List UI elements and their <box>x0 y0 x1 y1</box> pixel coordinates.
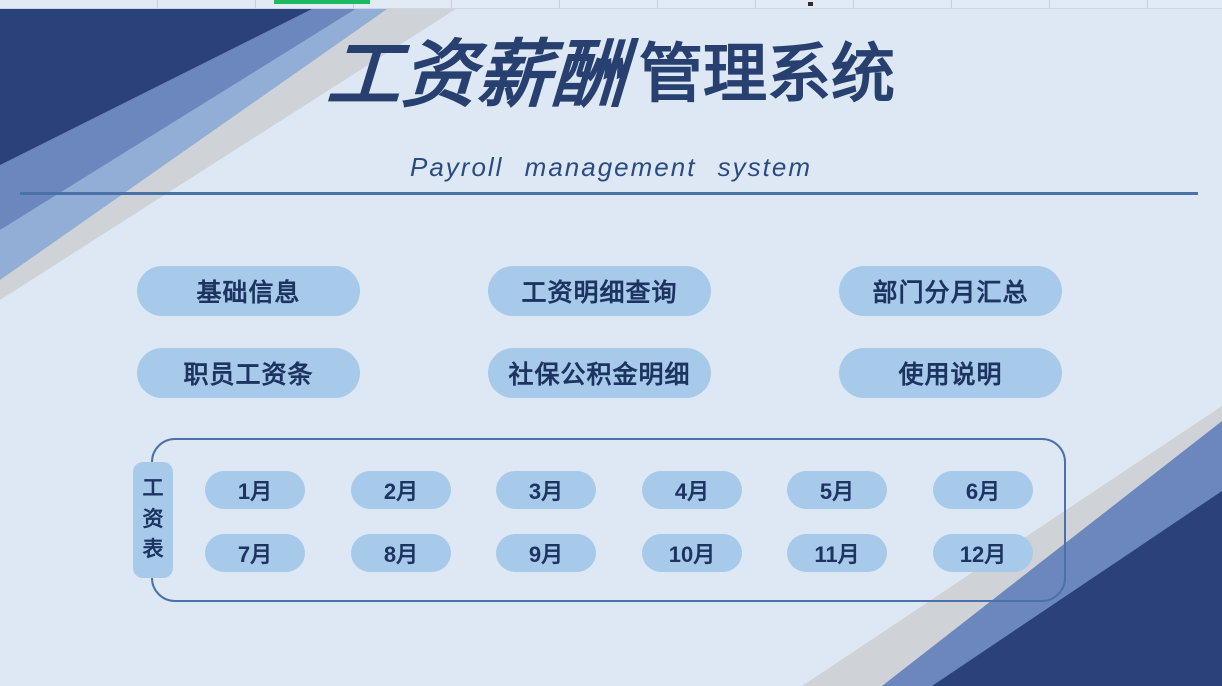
payroll-tab-char-1: 工 <box>143 474 164 504</box>
sheet-cell-mark <box>808 2 813 6</box>
payroll-tab-char-3: 表 <box>143 535 164 565</box>
sheet-divider <box>0 8 1222 9</box>
sheet-selection-indicator <box>274 0 370 4</box>
month-button-4[interactable]: 4月 <box>642 471 742 509</box>
month-button-12[interactable]: 12月 <box>933 534 1033 572</box>
payroll-tab-char-2: 资 <box>143 505 164 535</box>
month-button-2[interactable]: 2月 <box>351 471 451 509</box>
month-button-9[interactable]: 9月 <box>496 534 596 572</box>
month-button-10[interactable]: 10月 <box>642 534 742 572</box>
month-button-3[interactable]: 3月 <box>496 471 596 509</box>
spreadsheet-top-strip <box>0 0 1222 9</box>
month-button-5[interactable]: 5月 <box>787 471 887 509</box>
month-button-6[interactable]: 6月 <box>933 471 1033 509</box>
payroll-table-tab[interactable]: 工 资 表 <box>133 462 173 578</box>
month-button-11[interactable]: 11月 <box>787 534 887 572</box>
month-button-8[interactable]: 8月 <box>351 534 451 572</box>
month-button-7[interactable]: 7月 <box>205 534 305 572</box>
month-button-grid: 1月 2月 3月 4月 5月 6月 7月 8月 9月 10月 11月 12月 <box>0 0 1222 686</box>
payroll-system-cover: 工资薪酬管理系统 Payroll management system 基础信息 … <box>0 0 1222 686</box>
month-button-1[interactable]: 1月 <box>205 471 305 509</box>
